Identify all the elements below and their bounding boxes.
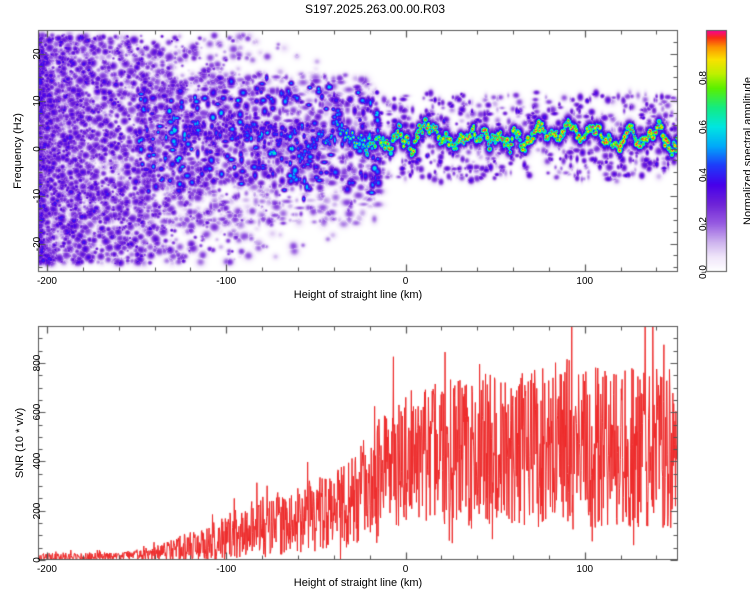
snr-ytick-0: 0 [32, 557, 43, 563]
snr-ytick-400: 400 [32, 453, 43, 470]
spectrogram-yaxis-label: Frequency (Hz) [12, 113, 24, 189]
snr-xtick--100: -100 [216, 564, 236, 575]
spectrogram-ytick--20: -20 [32, 236, 43, 250]
spectrogram-xtick--100: -100 [216, 276, 236, 287]
snr-ytick-200: 200 [32, 502, 43, 519]
spectrogram-ytick-0: 0 [32, 146, 43, 152]
spectrogram-ytick-10: 10 [32, 96, 43, 107]
spectrogram-xtick--200: -200 [37, 276, 57, 287]
figure-title: S197.2025.263.00.00.R03 [0, 2, 750, 16]
spectrogram-ytick-20: 20 [32, 48, 43, 59]
snr-xtick-100: 100 [576, 564, 593, 575]
colorbar-tick-0.6: 0.6 [698, 120, 709, 134]
colorbar-tick-0.8: 0.8 [698, 71, 709, 85]
snr-ytick-800: 800 [32, 355, 43, 372]
spectrogram-ytick--10: -10 [32, 189, 43, 203]
snr-ytick-600: 600 [32, 404, 43, 421]
spectrogram-xtick-0: 0 [403, 276, 409, 287]
colorbar-tick-0.4: 0.4 [698, 168, 709, 182]
colorbar-tick-0.2: 0.2 [698, 217, 709, 231]
snr-yaxis-label: SNR (10 * v/v) [14, 408, 26, 478]
colorbar-label: Normalized spectral amplitude [742, 77, 750, 225]
spectrogram-xaxis-label: Height of straight line (km) [294, 289, 422, 301]
figure-root: S197.2025.263.00.00.R03 Height of straig… [0, 0, 750, 600]
snr-xaxis-label: Height of straight line (km) [294, 577, 422, 589]
spectrogram-xtick-100: 100 [576, 276, 593, 287]
snr-xtick--200: -200 [37, 564, 57, 575]
colorbar-tick-0.0: 0.0 [698, 265, 709, 279]
snr-xtick-0: 0 [403, 564, 409, 575]
